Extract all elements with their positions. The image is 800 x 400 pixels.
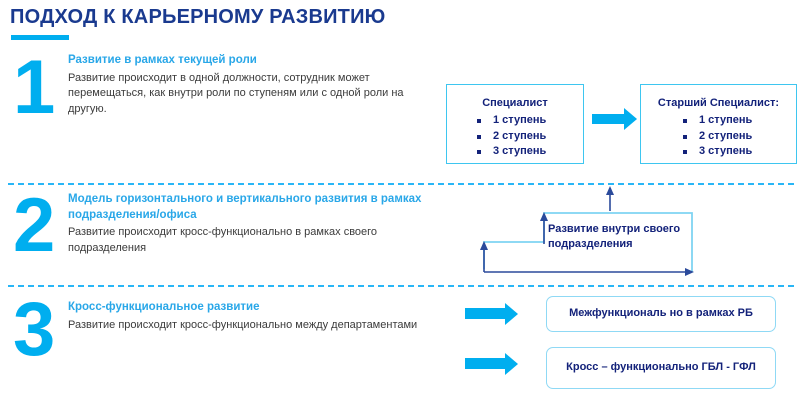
list-item: 2 ступень <box>683 129 796 145</box>
section-heading-3: Кросс-функциональное развитие <box>68 300 428 316</box>
section-text-1: Развитие в рамках текущей роли Развитие … <box>68 53 418 118</box>
role-box-senior-specialist: Старший Специалист: 1 ступень 2 ступень … <box>640 84 797 164</box>
section-divider-2 <box>8 285 794 287</box>
role-box-grade-list: 1 ступень 2 ступень 3 ступень <box>447 113 583 161</box>
list-item: 3 ступень <box>683 144 796 160</box>
staircase-label: Развитие внутри своего подразделения <box>548 222 688 252</box>
section-body-2: Развитие происходит кросс-функционально … <box>68 225 428 257</box>
arrow-right-icon-promotion <box>592 114 624 124</box>
list-item: 1 ступень <box>683 113 796 129</box>
section-body-1: Развитие происходит в одной должности, с… <box>68 71 418 119</box>
section-number-2: 2 <box>13 188 55 264</box>
arrow-right-icon-cross-gbl <box>465 358 505 369</box>
section-divider-1 <box>8 183 794 185</box>
role-box-title: Старший Специалист: <box>641 96 796 112</box>
section-body-3: Развитие происходит кросс-функционально … <box>68 318 428 334</box>
section-number-3: 3 <box>13 292 55 368</box>
title-underline-rule <box>11 35 69 40</box>
arrow-right-icon-cross-rb <box>465 308 505 319</box>
section-number-1: 1 <box>13 50 55 126</box>
cross-functional-box-gbl: Кросс – функционально ГБЛ - ГФЛ <box>546 347 776 389</box>
section-heading-2: Модель горизонтального и вертикального р… <box>68 192 428 223</box>
section-heading-1: Развитие в рамках текущей роли <box>68 53 418 69</box>
section-text-3: Кросс-функциональное развитие Развитие п… <box>68 300 428 333</box>
list-item: 2 ступень <box>477 129 583 145</box>
slide-root: ПОДХОД К КАРЬЕРНОМУ РАЗВИТИЮ 1 Развитие … <box>0 0 800 400</box>
cross-functional-box-rb: Межфункциональ но в рамках РБ <box>546 296 776 332</box>
role-box-grade-list: 1 ступень 2 ступень 3 ступень <box>641 113 796 161</box>
role-box-specialist: Специалист 1 ступень 2 ступень 3 ступень <box>446 84 584 164</box>
list-item: 1 ступень <box>477 113 583 129</box>
list-item: 3 ступень <box>477 144 583 160</box>
role-box-title: Специалист <box>447 96 583 112</box>
section-text-2: Модель горизонтального и вертикального р… <box>68 192 428 257</box>
page-title: ПОДХОД К КАРЬЕРНОМУ РАЗВИТИЮ <box>10 6 386 29</box>
